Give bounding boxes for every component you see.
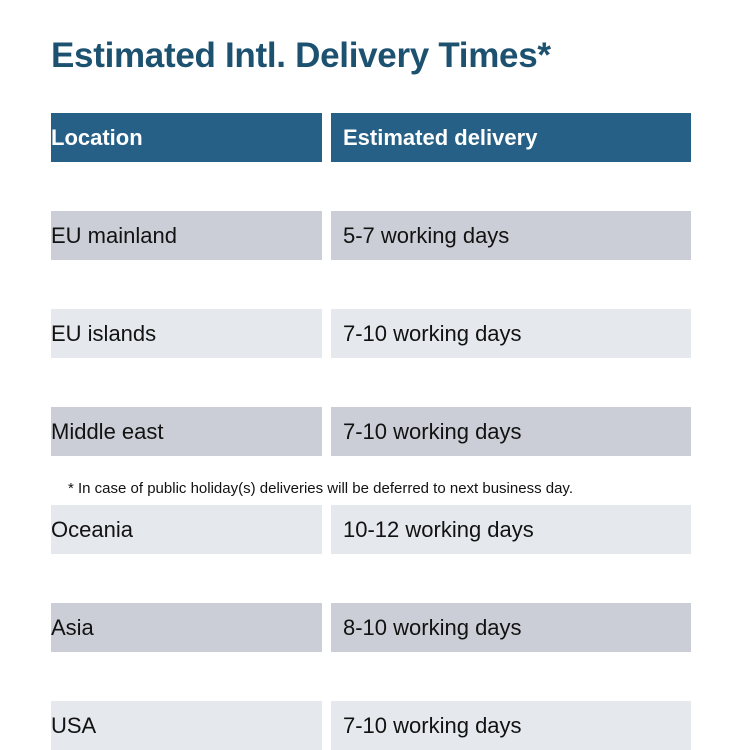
estimated-delivery-table: Location Estimated delivery EU mainland … [51,113,691,750]
page-title: Estimated Intl. Delivery Times* [51,36,551,76]
table-row: Asia 8-10 working days [51,603,691,652]
cell-location: Middle east [51,407,322,456]
spacer-cell [322,652,331,701]
spacer-cell [51,162,322,211]
column-divider [322,505,331,554]
row-spacer [51,554,691,603]
column-divider [322,309,331,358]
table-row: EU mainland 5-7 working days [51,211,691,260]
table-header-row: Location Estimated delivery [51,113,691,162]
table-row: EU islands 7-10 working days [51,309,691,358]
cell-estimated-delivery: 7-10 working days [331,407,691,456]
spacer-cell [331,652,691,701]
footnote-text: * In case of public holiday(s) deliverie… [68,480,573,497]
cell-location: EU islands [51,309,322,358]
row-spacer [51,162,691,211]
spacer-cell [322,260,331,309]
spacer-cell [51,554,322,603]
spacer-cell [322,358,331,407]
spacer-cell [51,260,322,309]
delivery-times-page: Estimated Intl. Delivery Times* Location… [0,0,745,536]
row-spacer [51,652,691,701]
spacer-cell [331,162,691,211]
cell-estimated-delivery: 7-10 working days [331,701,691,750]
column-divider [322,113,331,162]
spacer-cell [51,358,322,407]
cell-estimated-delivery: 5-7 working days [331,211,691,260]
cell-location: USA [51,701,322,750]
table-row: USA 7-10 working days [51,701,691,750]
spacer-cell [331,554,691,603]
table-row: Oceania 10-12 working days [51,505,691,554]
spacer-cell [331,358,691,407]
row-spacer [51,358,691,407]
cell-estimated-delivery: 10-12 working days [331,505,691,554]
cell-location: EU mainland [51,211,322,260]
table-row: Middle east 7-10 working days [51,407,691,456]
table-body: EU mainland 5-7 working days EU islands … [51,162,691,750]
cell-estimated-delivery: 8-10 working days [331,603,691,652]
spacer-cell [322,162,331,211]
column-header-estimated-delivery: Estimated delivery [331,113,691,162]
spacer-cell [331,260,691,309]
spacer-cell [322,554,331,603]
column-divider [322,407,331,456]
column-header-location: Location [51,113,322,162]
spacer-cell [51,652,322,701]
row-spacer [51,260,691,309]
column-divider [322,701,331,750]
cell-location: Asia [51,603,322,652]
table-header: Location Estimated delivery [51,113,691,162]
column-divider [322,603,331,652]
cell-estimated-delivery: 7-10 working days [331,309,691,358]
cell-location: Oceania [51,505,322,554]
column-divider [322,211,331,260]
